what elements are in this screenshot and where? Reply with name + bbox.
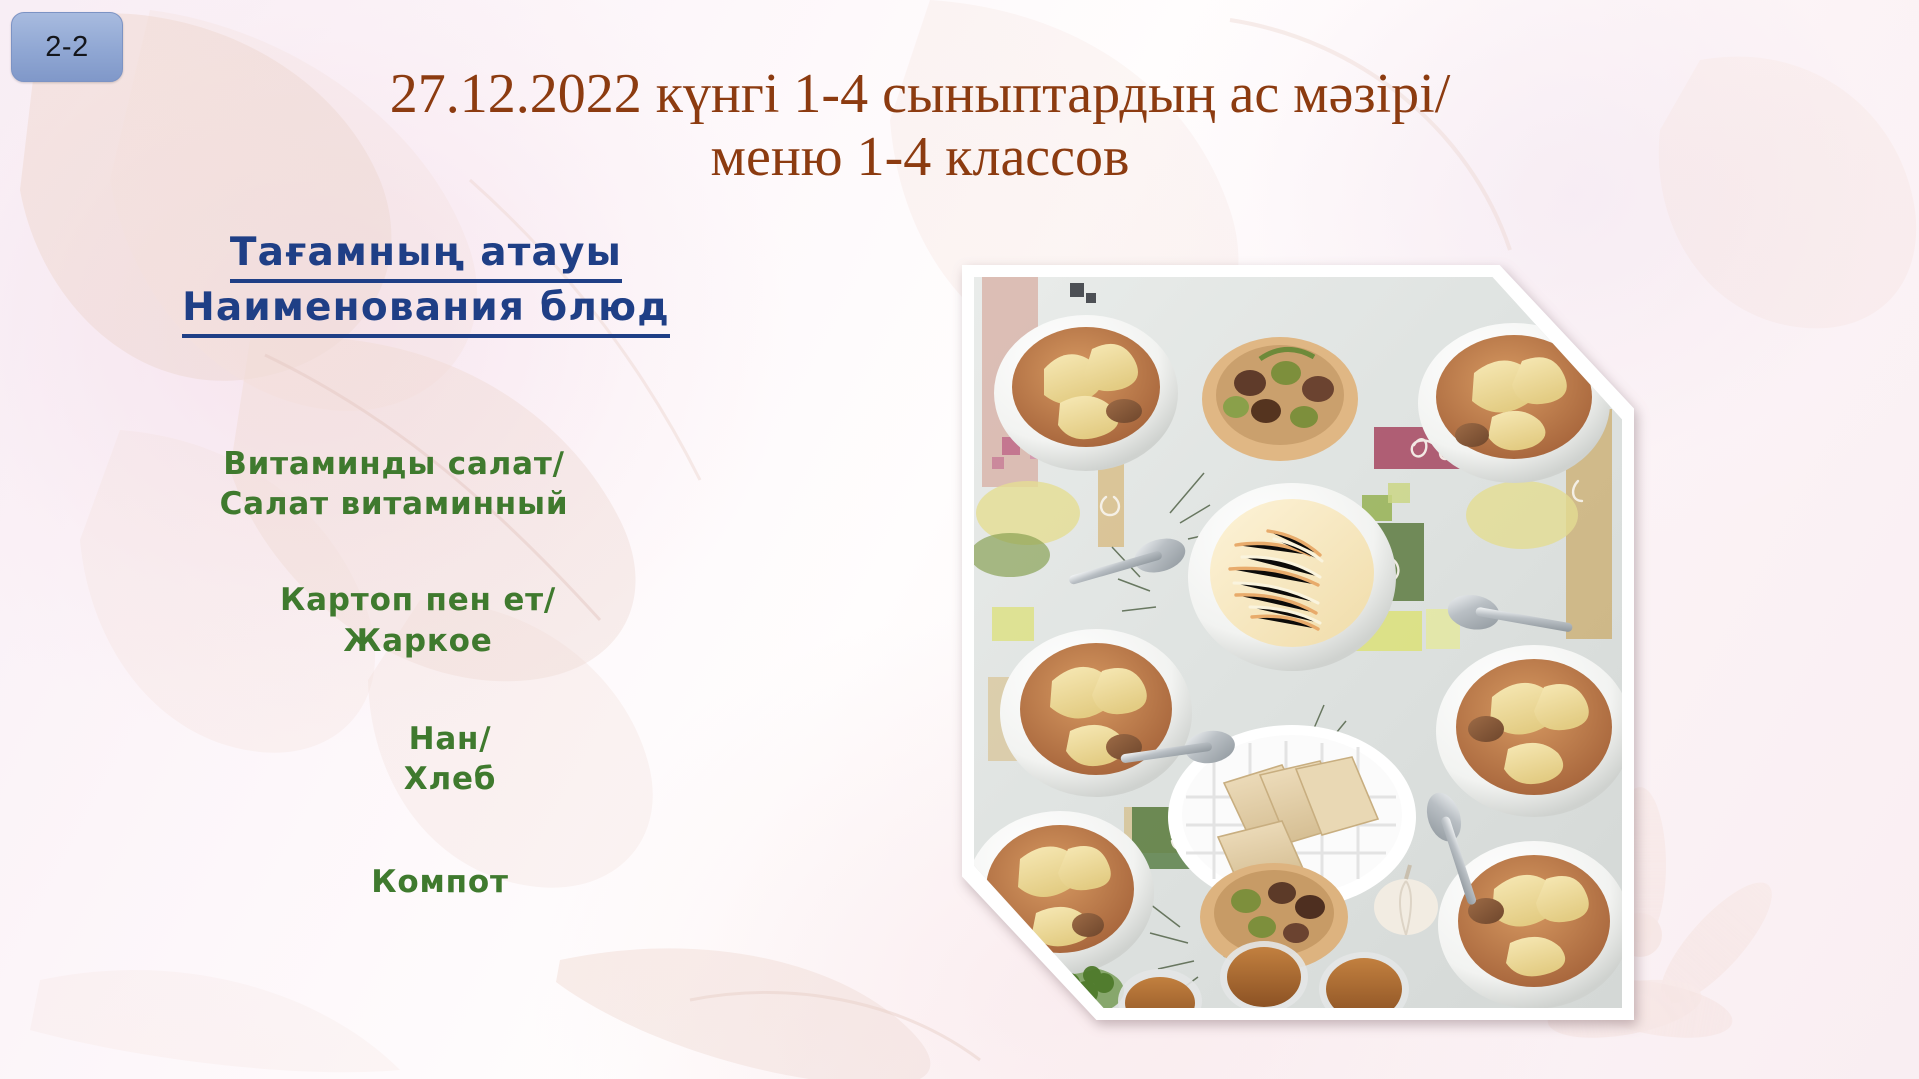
menu-item: Нан/ Хлеб: [120, 719, 780, 800]
page-title: 27.12.2022 күнгі 1-4 сыныптардың ас мәзі…: [120, 63, 1720, 188]
menu-item-kk: Картоп пен ет/: [88, 580, 748, 620]
menu-item-list: Витаминды салат/ Салат витаминный Картоп…: [96, 444, 756, 902]
title-line-2: меню 1-4 классов: [120, 126, 1720, 189]
menu-heading: Тағамның атауы Наименования блюд: [96, 228, 756, 338]
menu-item-ru: Жаркое: [88, 621, 748, 661]
page-number-badge: 2-2: [11, 12, 123, 82]
menu-item-kk: Витаминды салат/: [64, 444, 724, 484]
menu-column: Тағамның атауы Наименования блюд Витамин…: [96, 228, 756, 902]
menu-item-kk: Нан/: [120, 719, 780, 759]
menu-item-kk: Компот: [110, 862, 770, 902]
menu-item: Компот: [110, 862, 770, 902]
meal-photo: [962, 265, 1634, 1020]
photo-image: [974, 277, 1622, 1008]
menu-heading-line-1: Тағамның атауы: [230, 228, 622, 283]
title-line-1: 27.12.2022 күнгі 1-4 сыныптардың ас мәзі…: [390, 63, 1451, 125]
menu-item-ru: Хлеб: [120, 759, 780, 799]
menu-heading-line-2: Наименования блюд: [182, 283, 670, 338]
slide-canvas: 2-2 27.12.2022 күнгі 1-4 сыныптардың ас …: [0, 0, 1919, 1079]
menu-item: Картоп пен ет/ Жаркое: [88, 580, 748, 661]
menu-item: Витаминды салат/ Салат витаминный: [64, 444, 724, 525]
menu-item-ru: Салат витаминный: [64, 484, 724, 524]
